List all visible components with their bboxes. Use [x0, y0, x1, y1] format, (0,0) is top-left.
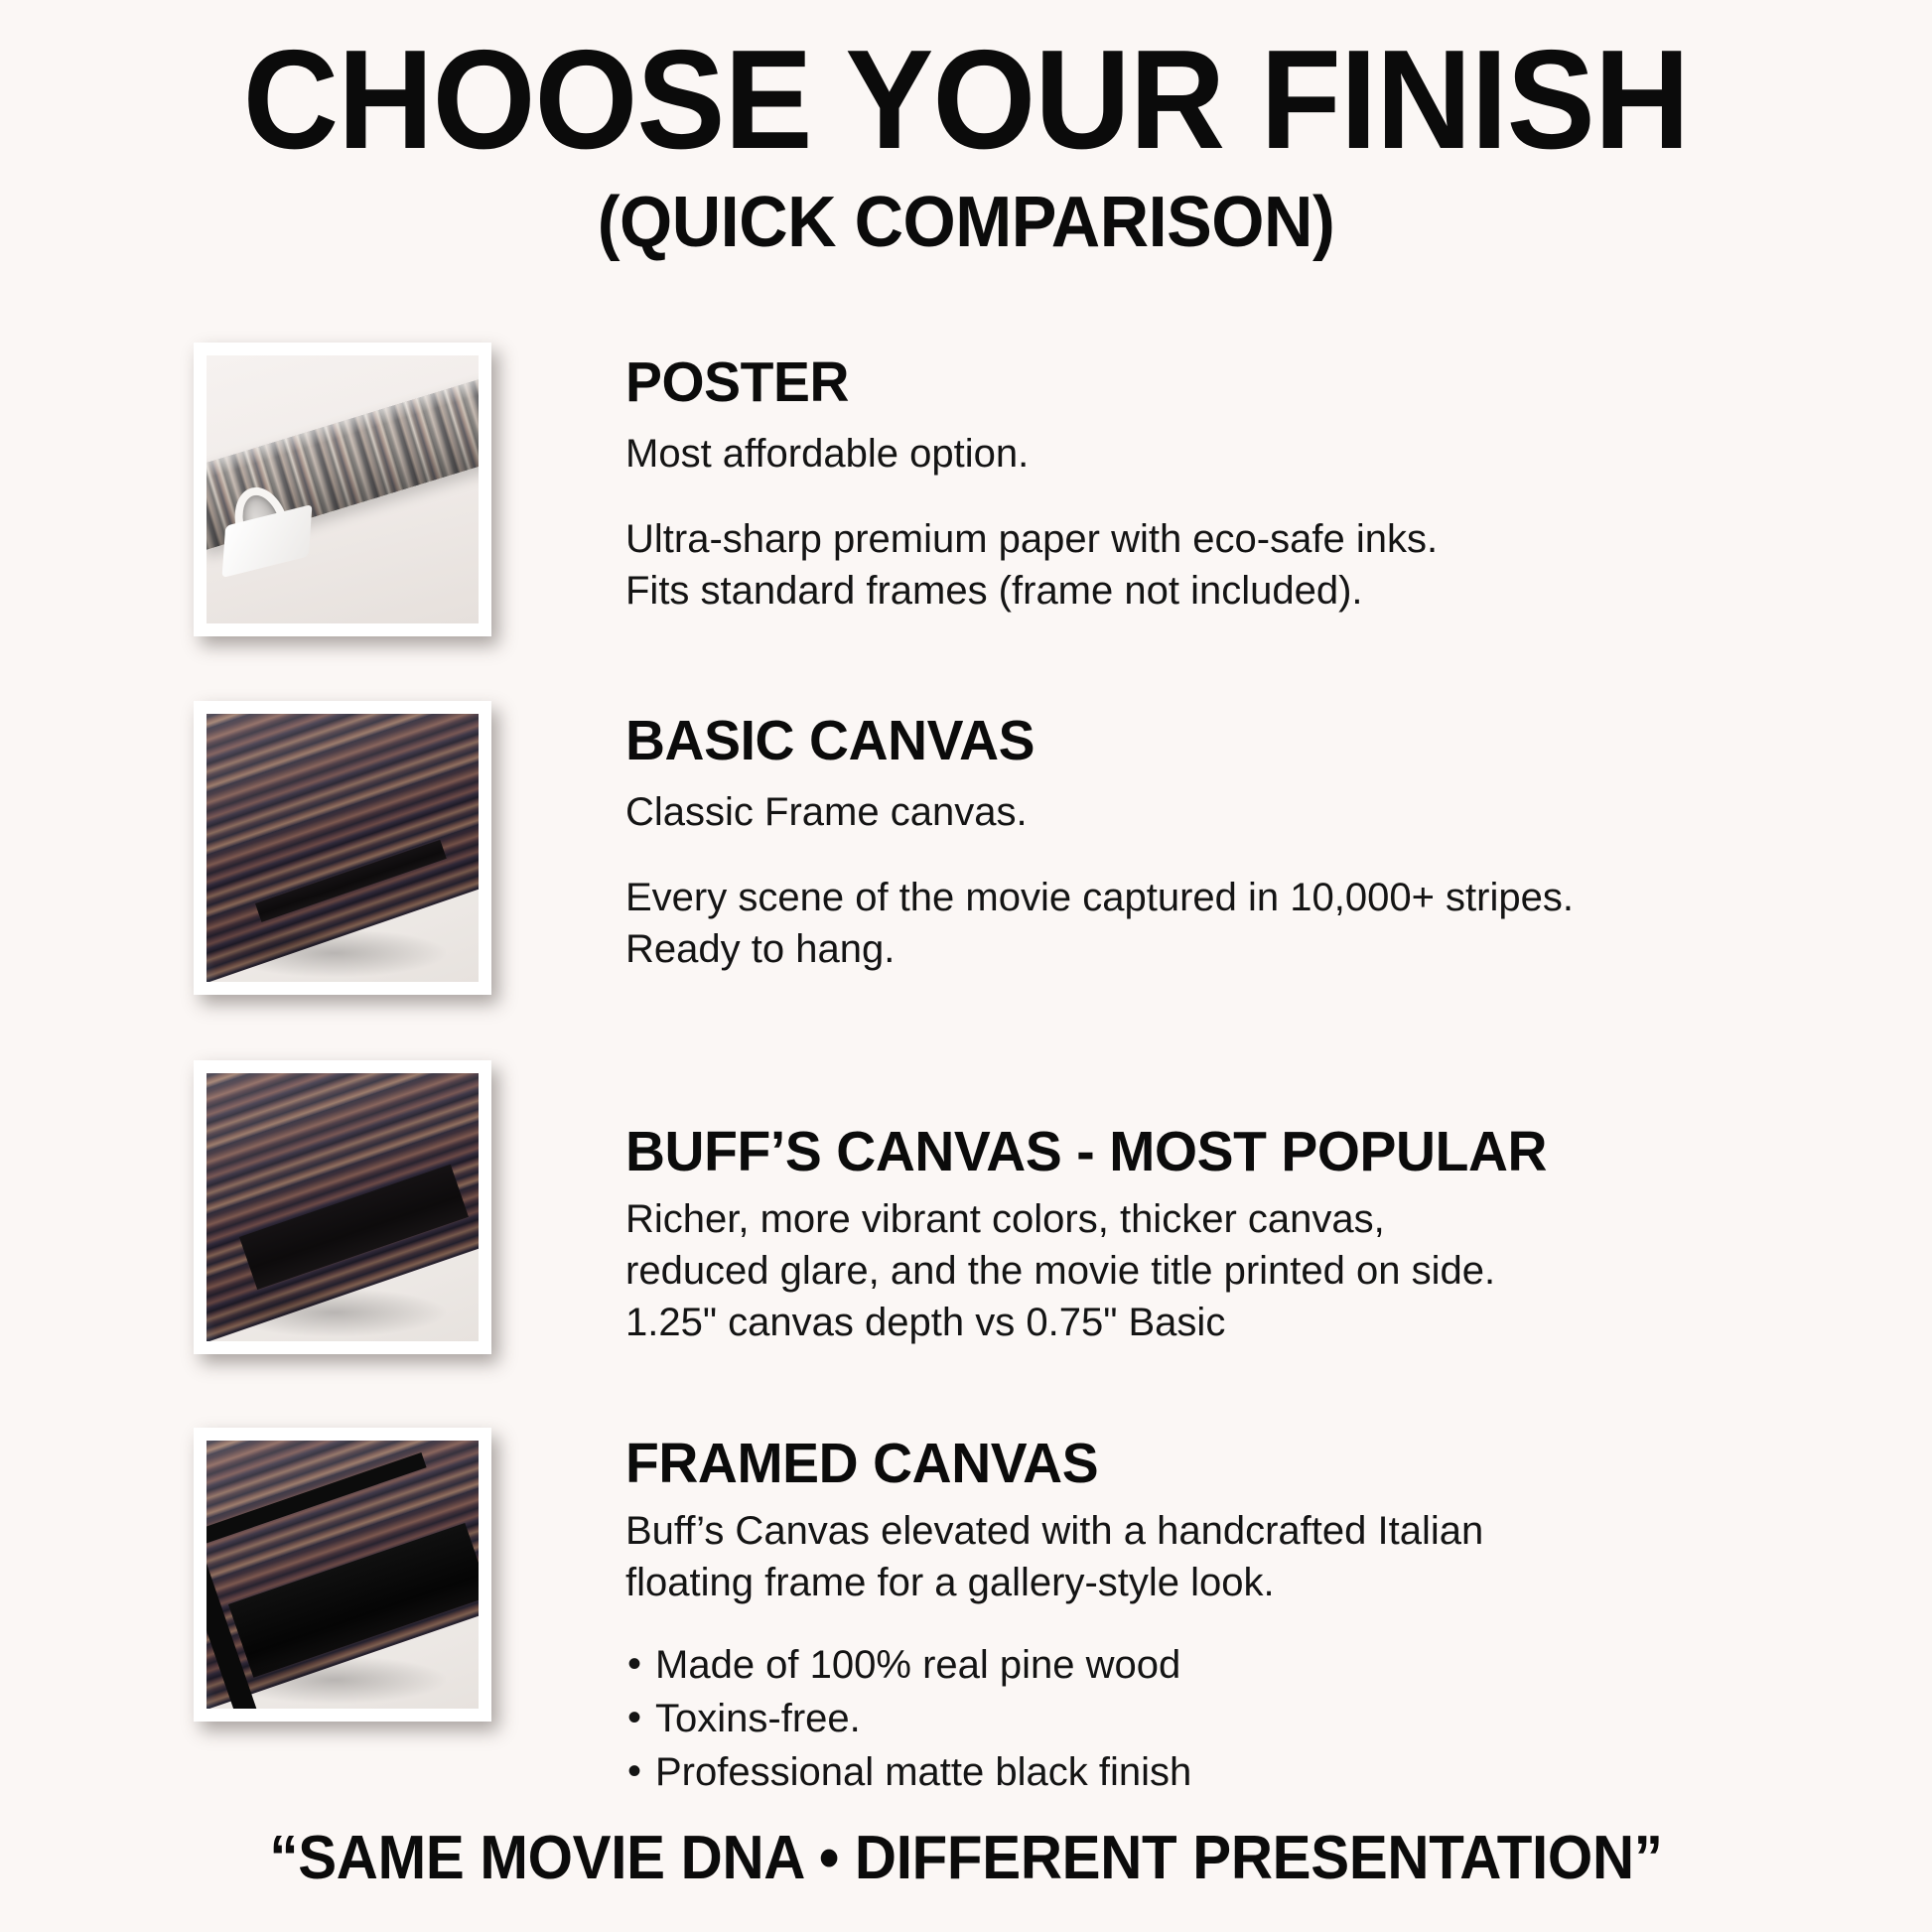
page-subtitle: (QUICK COMPARISON) [49, 181, 1884, 264]
option-title-basic-canvas: BASIC CANVAS [625, 709, 1816, 772]
header: CHOOSE YOUR FINISH (QUICK COMPARISON) [0, 26, 1932, 264]
option-body-line-1: Ultra-sharp premium paper with eco-safe … [625, 513, 1853, 565]
option-title-framed-canvas: FRAMED CANVAS [625, 1432, 1816, 1495]
option-body-buffs-canvas: Richer, more vibrant colors, thicker can… [625, 1193, 1853, 1348]
product-image-inner [207, 714, 479, 982]
option-lead-poster: Most affordable option. [625, 428, 1853, 480]
option-body-line-2: Fits standard frames (frame not included… [625, 565, 1853, 617]
product-image-inner [207, 1073, 479, 1341]
framed-canvas-icon [207, 1441, 479, 1709]
option-body-line-2: floating frame for a gallery-style look. [625, 1557, 1853, 1608]
option-body-line-1: Richer, more vibrant colors, thicker can… [625, 1193, 1853, 1245]
list-item: Toxins-free. [625, 1692, 1853, 1745]
canvas-shadow-shape [222, 1656, 446, 1704]
option-copy-basic-canvas: BASIC CANVAS Classic Frame canvas. Every… [625, 709, 1853, 975]
product-image-inner [207, 1441, 479, 1709]
option-copy-buffs-canvas: BUFF’S CANVAS - MOST POPULAR Richer, mor… [625, 1120, 1853, 1348]
infographic-page: CHOOSE YOUR FINISH (QUICK COMPARISON) PO… [0, 0, 1932, 1932]
option-title-poster: POSTER [625, 350, 1816, 414]
footer: “SAME MOVIE DNA • DIFFERENT PRESENTATION… [0, 1823, 1932, 1894]
option-body-line-1: Every scene of the movie captured in 10,… [625, 872, 1853, 923]
option-body-basic-canvas: Every scene of the movie captured in 10,… [625, 872, 1853, 975]
option-body-framed-canvas: Buff’s Canvas elevated with a handcrafte… [625, 1505, 1853, 1608]
product-image-poster[interactable] [194, 343, 491, 636]
option-body-line-3: 1.25" canvas depth vs 0.75" Basic [625, 1297, 1853, 1348]
page-title: CHOOSE YOUR FINISH [58, 26, 1873, 175]
option-lead-basic-canvas: Classic Frame canvas. [625, 786, 1853, 838]
option-copy-poster: POSTER Most affordable option. Ultra-sha… [625, 350, 1853, 617]
product-image-buffs-canvas[interactable] [194, 1060, 491, 1354]
list-item: Made of 100% real pine wood [625, 1638, 1853, 1692]
product-image-basic-canvas[interactable] [194, 701, 491, 995]
product-image-inner [207, 355, 479, 623]
basic-canvas-icon [207, 714, 479, 982]
option-body-line-1: Buff’s Canvas elevated with a handcrafte… [625, 1505, 1853, 1557]
option-body-line-2: Ready to hang. [625, 923, 1853, 975]
option-body-poster: Ultra-sharp premium paper with eco-safe … [625, 513, 1853, 617]
buffs-canvas-icon [207, 1073, 479, 1341]
product-image-framed-canvas[interactable] [194, 1428, 491, 1722]
rolled-poster-icon [207, 355, 479, 623]
framed-canvas-feature-list: Made of 100% real pine wood Toxins-free.… [625, 1638, 1853, 1799]
canvas-shadow-shape [222, 929, 446, 977]
footer-tagline: “SAME MOVIE DNA • DIFFERENT PRESENTATION… [58, 1823, 1873, 1894]
list-item: Professional matte black finish [625, 1745, 1853, 1799]
canvas-shadow-shape [222, 1289, 446, 1336]
option-copy-framed-canvas: FRAMED CANVAS Buff’s Canvas elevated wit… [625, 1432, 1853, 1799]
option-title-buffs-canvas: BUFF’S CANVAS - MOST POPULAR [625, 1120, 1816, 1183]
option-body-line-2: reduced glare, and the movie title print… [625, 1245, 1853, 1297]
